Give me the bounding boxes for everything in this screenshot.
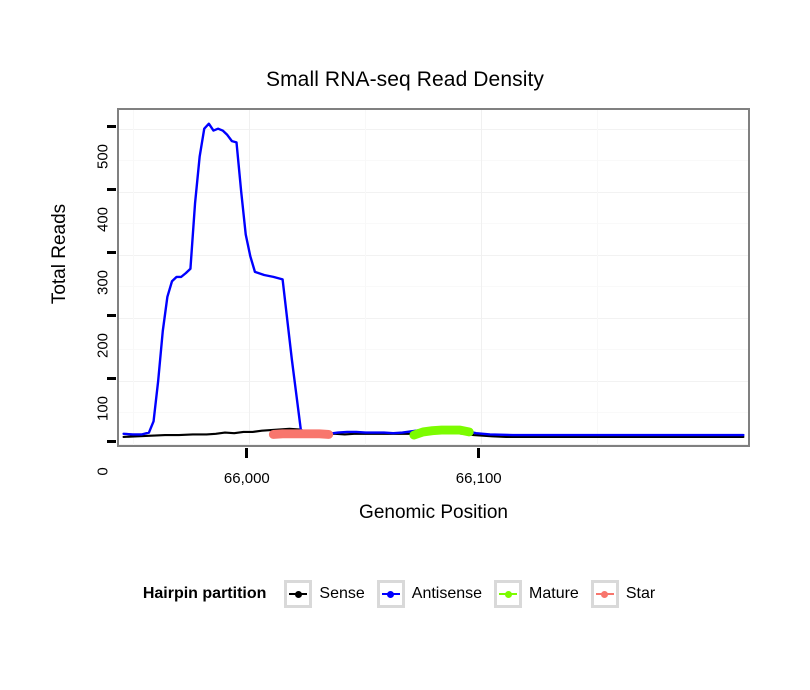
legend-title: Hairpin partition: [143, 585, 267, 603]
chart-legend: Hairpin partition SenseAntisenseMatureSt…: [0, 580, 810, 608]
x-tick-mark: [477, 448, 480, 458]
x-tick-mark: [245, 448, 248, 458]
y-tick-label: 100: [95, 378, 112, 438]
legend-items: SenseAntisenseMatureStar: [284, 580, 667, 608]
series-line-antisense: [124, 124, 744, 435]
legend-item-antisense[interactable]: Antisense: [377, 580, 482, 608]
y-axis-title: Total Reads: [49, 154, 71, 354]
y-tick-label: 0: [95, 441, 112, 501]
legend-key-dot: [387, 591, 394, 598]
legend-label: Mature: [529, 585, 579, 603]
legend-key-mature-icon: [494, 580, 522, 608]
legend-key-dot: [601, 591, 608, 598]
y-tick-label: 200: [95, 315, 112, 375]
y-tick-label: 500: [95, 126, 112, 186]
chart-title: Small RNA-seq Read Density: [0, 68, 810, 92]
legend-key-star-icon: [591, 580, 619, 608]
x-axis-title: Genomic Position: [117, 502, 750, 524]
legend-key-dot: [505, 591, 512, 598]
legend-item-sense[interactable]: Sense: [284, 580, 364, 608]
legend-key-sense-icon: [284, 580, 312, 608]
legend-key-dot: [295, 591, 302, 598]
y-tick-label: 300: [95, 252, 112, 312]
legend-label: Sense: [319, 585, 364, 603]
y-tick-label: 400: [95, 189, 112, 249]
data-series-layer: [119, 110, 748, 445]
legend-item-star[interactable]: Star: [591, 580, 655, 608]
plot-panel: [117, 108, 750, 447]
legend-label: Antisense: [412, 585, 482, 603]
legend-item-mature[interactable]: Mature: [494, 580, 579, 608]
x-tick-label: 66,100: [419, 470, 539, 487]
legend-label: Star: [626, 585, 655, 603]
legend-key-antisense-icon: [377, 580, 405, 608]
chart-root: Small RNA-seq Read Density Total Reads G…: [0, 0, 810, 690]
series-line-mature: [414, 430, 469, 435]
series-line-star: [273, 434, 328, 435]
x-tick-label: 66,000: [187, 470, 307, 487]
